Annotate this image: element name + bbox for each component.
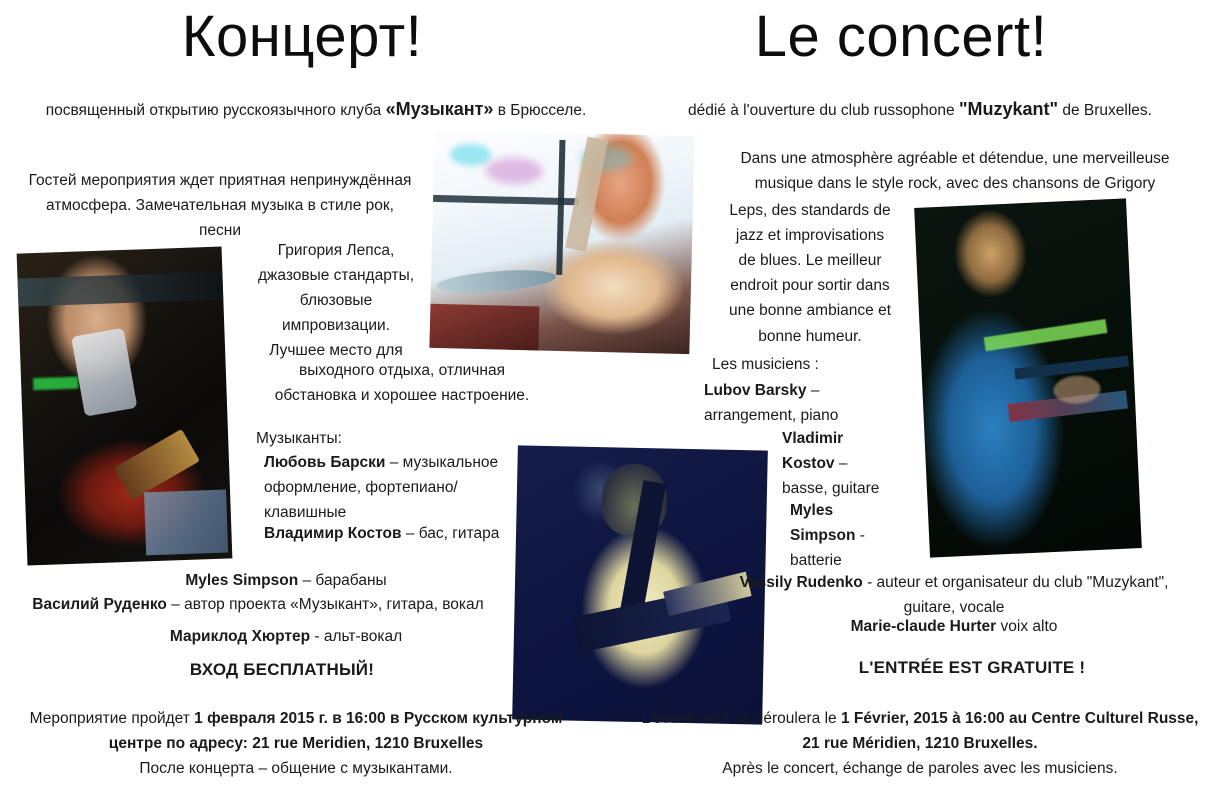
intro-fr-narrow-line6: bonne humeur. bbox=[718, 324, 902, 349]
sheet-music-green bbox=[983, 319, 1107, 351]
musicians-heading-ru-text: Музыканты: bbox=[256, 430, 342, 447]
intro-fr-line2: musique dans le style rock, avec des cha… bbox=[716, 171, 1194, 196]
window-mullion-vertical bbox=[556, 139, 566, 274]
musician-ru-4: Мариклод Хюртер - альт-вокал bbox=[60, 624, 512, 649]
intro-ru-wide: выходного отдыха, отличная обстановка и … bbox=[244, 358, 560, 408]
intro-ru-narrow-line2: джазовые стандарты, bbox=[248, 263, 424, 288]
musicians-heading-fr: Les musiciens : bbox=[712, 352, 932, 377]
musician-fr-3-role: - auteur et organisateur du club "Muzyka… bbox=[863, 574, 1169, 616]
musicians-heading-fr-text: Les musiciens : bbox=[712, 356, 819, 373]
musician-fr-4-name: Marie-claude Hurter bbox=[851, 618, 997, 635]
guitar-neck bbox=[114, 428, 200, 499]
musician-fr-4-role: voix alto bbox=[996, 618, 1057, 635]
drumstick bbox=[565, 137, 608, 252]
musician-ru-0-name: Любовь Барски bbox=[264, 454, 385, 471]
intro-fr: Dans une atmosphère agréable et détendue… bbox=[716, 146, 1194, 196]
intro-ru-line2: атмосфера. Замечательная музыка в стиле … bbox=[10, 193, 430, 218]
window-mullion-horizontal bbox=[433, 195, 579, 205]
footer-ru-after: После концерта – общение с музыкантами. bbox=[10, 756, 582, 781]
musician-ru-1-name: Владимир Костов bbox=[264, 525, 402, 542]
intro-ru-narrow: Григория Лепса, джазовые стандарты, блюз… bbox=[248, 238, 424, 364]
guitarist-photo bbox=[17, 247, 233, 566]
intro-fr-narrow-line4: endroit pour sortir dans bbox=[718, 273, 902, 298]
musician-ru-2-name: Myles Simpson bbox=[185, 572, 298, 589]
intro-ru-wide-line1: выходного отдыха, отличная bbox=[244, 358, 560, 383]
drummer-photo bbox=[429, 130, 694, 354]
subtitle-ru-suffix: в Брюсселе. bbox=[493, 102, 586, 119]
cymbal bbox=[436, 266, 557, 295]
musician-ru-2: Myles Simpson – барабаны bbox=[60, 568, 512, 593]
musician-fr-2-name: Myles Simpson bbox=[790, 502, 855, 544]
musician-fr-1: Vladimir Kostov – basse, guitare bbox=[782, 426, 894, 501]
drummer-photo-inner bbox=[429, 130, 694, 354]
intro-ru-narrow-line1: Григория Лепса, bbox=[248, 238, 424, 263]
musician-fr-4: Marie-claude Hurter voix alto bbox=[712, 614, 1196, 639]
musician-fr-2: Myles Simpson - batterie bbox=[790, 498, 894, 573]
intro-fr-narrow-line5: une bonne ambiance et bbox=[718, 298, 902, 323]
musician-ru-3-name: Василий Руденко bbox=[32, 596, 167, 613]
intro-fr-line1: Dans une atmosphère agréable et détendue… bbox=[716, 146, 1194, 171]
subtitle-ru: посвященный открытию русскоязычного клуб… bbox=[36, 96, 596, 124]
shirt-highlight bbox=[72, 328, 139, 417]
footer-ru: Мероприятие пройдет 1 февраля 2015 г. в … bbox=[10, 706, 582, 781]
musician-ru-4-name: Мариклод Хюртер bbox=[170, 628, 310, 645]
subtitle-fr: dédié à l'ouverture du club russophone "… bbox=[640, 96, 1200, 124]
musician-fr-3-name: Vassily Rudenko bbox=[740, 574, 863, 591]
musician-ru-2-role: – барабаны bbox=[298, 572, 386, 589]
pianist-photo bbox=[914, 198, 1142, 557]
free-entry-fr: L'ENTRÉE EST GRATUITE ! bbox=[746, 658, 1198, 678]
guitarist-photo-inner bbox=[17, 247, 233, 566]
footer-ru-prefix: Мероприятие пройдет bbox=[30, 710, 195, 727]
subtitle-ru-club: «Музыкант» bbox=[386, 99, 494, 119]
intro-ru-narrow-line4: импровизации. bbox=[248, 313, 424, 338]
magenta-light-blob bbox=[485, 157, 543, 185]
intro-ru-wide-line2: обстановка и хорошее настроение. bbox=[244, 383, 560, 408]
footer-fr-bold: 1 Février, 2015 à 16:00 au Centre Cultur… bbox=[802, 710, 1198, 752]
musician-ru-1: Владимир Костов – бас, гитара bbox=[264, 521, 500, 546]
drum-shell bbox=[429, 304, 539, 350]
footer-fr: L'événement se déroulera le 1 Février, 2… bbox=[634, 706, 1206, 781]
stage-backdrop-band bbox=[17, 271, 223, 306]
subtitle-fr-prefix: dédié à l'ouverture du club russophone bbox=[688, 102, 959, 119]
green-stage-light bbox=[33, 376, 79, 390]
footer-fr-prefix: L'événement se déroulera le bbox=[642, 710, 841, 727]
musician-ru-4-role: - альт-вокал bbox=[310, 628, 402, 645]
musician-fr-0: Lubov Barsky – arrangement, piano bbox=[704, 378, 880, 428]
cyan-light-blob bbox=[449, 143, 491, 166]
musician-ru-1-role: – бас, гитара bbox=[402, 525, 500, 542]
musician-fr-3: Vassily Rudenko - auteur et organisateur… bbox=[712, 570, 1196, 620]
intro-fr-narrow-line2: jazz et improvisations bbox=[718, 223, 902, 248]
free-entry-ru: ВХОД БЕСПЛАТНЫЙ! bbox=[56, 660, 508, 680]
subtitle-fr-club: "Muzykant" bbox=[959, 99, 1058, 119]
musician-fr-0-name: Lubov Barsky bbox=[704, 382, 807, 399]
musician-ru-3: Василий Руденко – автор проекта «Музыкан… bbox=[4, 592, 512, 617]
musician-ru-3-role: – автор проекта «Музыкант», гитара, вока… bbox=[167, 596, 484, 613]
musicians-heading-ru: Музыканты: bbox=[256, 426, 516, 451]
title-ru: Концерт! bbox=[152, 8, 452, 66]
intro-fr-narrow: Leps, des standards de jazz et improvisa… bbox=[718, 198, 902, 349]
intro-fr-narrow-line3: de blues. Le meilleur bbox=[718, 248, 902, 273]
footer-fr-after: Après le concert, échange de paroles ave… bbox=[634, 756, 1206, 781]
subtitle-ru-prefix: посвященный открытию русскоязычного клуб… bbox=[46, 102, 386, 119]
concert-poster: Концерт! посвященный открытию русскоязыч… bbox=[0, 0, 1213, 798]
intro-fr-narrow-line1: Leps, des standards de bbox=[718, 198, 902, 223]
jeans-highlight bbox=[144, 490, 228, 555]
pianist-photo-inner bbox=[914, 198, 1142, 557]
intro-ru-line1: Гостей мероприятия ждет приятная неприну… bbox=[10, 168, 430, 193]
intro-ru-narrow-line3: блюзовые bbox=[248, 288, 424, 313]
intro-ru: Гостей мероприятия ждет приятная неприну… bbox=[10, 168, 430, 243]
title-fr: Le concert! bbox=[730, 8, 1072, 66]
subtitle-fr-suffix: de Bruxelles. bbox=[1058, 102, 1152, 119]
musician-ru-0: Любовь Барски – музыкальное оформление, … bbox=[264, 450, 508, 525]
